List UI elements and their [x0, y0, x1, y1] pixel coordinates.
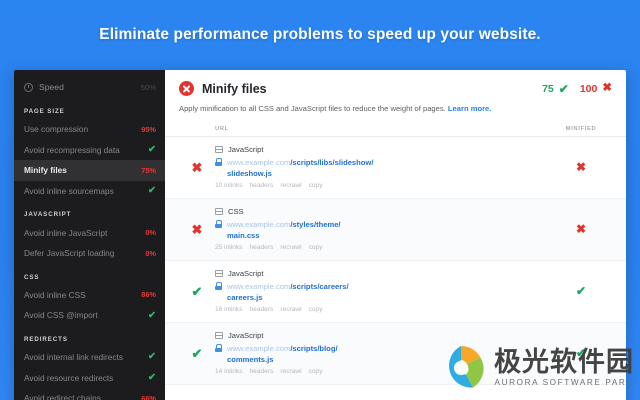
row-inlinks: 14 inlinks: [215, 368, 243, 375]
panel-description: Apply minification to all CSS and JavaSc…: [179, 104, 612, 115]
row-action-copy[interactable]: copy: [309, 244, 323, 251]
row-status-icon: ✖: [179, 161, 215, 174]
check-icon: ✔: [148, 186, 156, 196]
sidebar-item-value: 0%: [145, 228, 156, 237]
sidebar-item-value: 0%: [145, 249, 156, 258]
speed-value: 50%: [141, 83, 156, 92]
row-type: JavaScript: [215, 331, 550, 340]
row-action-recrawl[interactable]: recrawl: [280, 368, 301, 375]
row-status-icon: ✔: [179, 285, 215, 298]
file-type-icon: [215, 270, 223, 277]
check-icon: ✔: [148, 352, 156, 362]
sidebar-item-label: Avoid inline CSS: [24, 290, 141, 300]
row-url-text: www.example.com/scripts/careers/ careers…: [227, 281, 349, 303]
table-row[interactable]: ✖ CSS www.example.com/styles/theme/ main…: [165, 199, 626, 261]
row-type-label: JavaScript: [228, 269, 263, 278]
url-path: /scripts/blog/: [290, 344, 337, 353]
lock-icon: [215, 220, 222, 228]
column-header-url[interactable]: URL: [179, 126, 550, 132]
sidebar-item-value: 75%: [141, 166, 156, 175]
column-header-minified[interactable]: MINIFIED: [550, 126, 612, 132]
row-action-headers[interactable]: headers: [250, 368, 274, 375]
row-action-recrawl[interactable]: recrawl: [280, 182, 301, 189]
row-url-text: www.example.com/scripts/libs/slideshow/ …: [227, 157, 373, 179]
lock-icon: [215, 344, 222, 352]
row-action-copy[interactable]: copy: [309, 306, 323, 313]
sidebar-item-avoid-internal-link-redirects[interactable]: Avoid internal link redirects ✔: [14, 347, 165, 368]
row-type-label: JavaScript: [228, 331, 263, 340]
check-icon: ✔: [148, 145, 156, 155]
sidebar-section-page-size: PAGE SIZE: [14, 98, 165, 119]
row-minified-icon: ✔: [550, 285, 612, 297]
row-type: CSS: [215, 207, 550, 216]
sidebar-item-label: Avoid CSS @import: [24, 310, 148, 320]
sidebar-item-label: Avoid internal link redirects: [24, 352, 148, 362]
row-type: JavaScript: [215, 269, 550, 278]
x-circle-icon: [179, 81, 194, 96]
sidebar-section-javascript: JAVASCRIPT: [14, 201, 165, 222]
row-minified-icon: ✖: [550, 161, 612, 173]
sidebar: Speed 50% PAGE SIZE Use compression 95% …: [14, 70, 165, 400]
row-url[interactable]: www.example.com/styles/theme/ main.css: [215, 219, 550, 241]
row-action-copy[interactable]: copy: [309, 182, 323, 189]
file-type-icon: [215, 146, 223, 153]
sidebar-item-label: Defer JavaScript loading: [24, 248, 145, 258]
url-domain: www.example.com: [227, 344, 290, 353]
lock-icon: [215, 158, 222, 166]
sidebar-item-value: 86%: [141, 290, 156, 299]
url-domain: www.example.com: [227, 282, 290, 291]
row-action-headers[interactable]: headers: [250, 244, 274, 251]
sidebar-item-avoid-resource-redirects[interactable]: Avoid resource redirects ✔: [14, 367, 165, 388]
sidebar-item-label: Use compression: [24, 124, 141, 134]
row-meta: 16 inlinks headers recrawl copy: [215, 306, 550, 313]
url-domain: www.example.com: [227, 220, 290, 229]
sidebar-item-label: Avoid inline sourcemaps: [24, 186, 148, 196]
panel-description-text: Apply minification to all CSS and JavaSc…: [179, 104, 446, 113]
sidebar-item-value: 66%: [141, 394, 156, 400]
panel-title-row: Minify files 75 ✔ 100 ✖: [179, 81, 612, 96]
sidebar-item-avoid-inline-sourcemaps[interactable]: Avoid inline sourcemaps ✔: [14, 181, 165, 202]
panel-header: Minify files 75 ✔ 100 ✖ Apply minificati…: [165, 70, 626, 115]
url-domain: www.example.com: [227, 158, 290, 167]
sidebar-item-label: Avoid inline JavaScript: [24, 228, 145, 238]
table-body: ✖ JavaScript www.example.com/scripts/lib…: [165, 137, 626, 400]
sidebar-item-avoid-inline-javascript[interactable]: Avoid inline JavaScript 0%: [14, 222, 165, 243]
sidebar-item-use-compression[interactable]: Use compression 95%: [14, 119, 165, 140]
file-type-icon: [215, 332, 223, 339]
url-file: comments.js: [227, 354, 338, 365]
row-action-copy[interactable]: copy: [309, 368, 323, 375]
row-inlinks: 25 inlinks: [215, 244, 243, 251]
row-action-recrawl[interactable]: recrawl: [280, 306, 301, 313]
row-content: CSS www.example.com/styles/theme/ main.c…: [215, 207, 550, 251]
sidebar-item-label: Avoid recompressing data: [24, 145, 148, 155]
sidebar-item-minify-files[interactable]: Minify files 75%: [14, 160, 165, 181]
sidebar-item-label: Avoid redirect chains: [24, 393, 141, 400]
speed-label: Speed: [39, 82, 141, 92]
learn-more-link[interactable]: Learn more.: [448, 104, 491, 113]
score-pass-value: 75: [542, 83, 554, 95]
sidebar-section-redirects: REDIRECTS: [14, 326, 165, 347]
row-type-label: JavaScript: [228, 145, 263, 154]
sidebar-item-avoid-recompressing-data[interactable]: Avoid recompressing data ✔: [14, 140, 165, 161]
sidebar-item-avoid-css-import[interactable]: Avoid CSS @import ✔: [14, 305, 165, 326]
url-path: /scripts/careers/: [290, 282, 348, 291]
table-row[interactable]: CSS: [165, 385, 626, 400]
score-summary: 75 ✔ 100 ✖: [542, 83, 612, 95]
table-header: URL MINIFIED: [165, 126, 626, 137]
row-content: JavaScript www.example.com/scripts/blog/…: [215, 331, 550, 375]
url-file: main.css: [227, 230, 341, 241]
row-meta: 25 inlinks headers recrawl copy: [215, 244, 550, 251]
row-inlinks: 10 inlinks: [215, 182, 243, 189]
row-status-icon: ✖: [179, 223, 215, 236]
row-inlinks: 16 inlinks: [215, 306, 243, 313]
sidebar-item-label: Minify files: [24, 165, 141, 175]
row-meta: 10 inlinks headers recrawl copy: [215, 182, 550, 189]
clock-icon: [24, 83, 33, 92]
url-path: /scripts/libs/slideshow/: [290, 158, 373, 167]
sidebar-item-defer-javascript-loading[interactable]: Defer JavaScript loading 0%: [14, 243, 165, 264]
row-url[interactable]: www.example.com/scripts/libs/slideshow/ …: [215, 157, 550, 179]
check-icon: ✔: [148, 311, 156, 321]
check-icon: ✔: [148, 373, 156, 383]
app-window: Speed 50% PAGE SIZE Use compression 95% …: [14, 70, 626, 400]
sidebar-item-avoid-inline-css[interactable]: Avoid inline CSS 86%: [14, 285, 165, 306]
row-status-icon: ✔: [179, 347, 215, 360]
sidebar-item-avoid-redirect-chains[interactable]: Avoid redirect chains 66%: [14, 388, 165, 400]
row-action-recrawl[interactable]: recrawl: [280, 244, 301, 251]
row-content: JavaScript www.example.com/scripts/caree…: [215, 269, 550, 313]
row-minified-icon: ✔: [550, 347, 612, 359]
sidebar-item-value: 95%: [141, 125, 156, 134]
sidebar-section-css: CSS: [14, 264, 165, 285]
cross-icon: ✖: [602, 83, 612, 95]
row-url-text: www.example.com/scripts/blog/ comments.j…: [227, 343, 338, 365]
table-row[interactable]: ✔ JavaScript www.example.com/scripts/blo…: [165, 323, 626, 385]
file-type-icon: [215, 208, 223, 215]
row-minified-icon: ✖: [550, 223, 612, 235]
row-url[interactable]: www.example.com/scripts/blog/ comments.j…: [215, 343, 550, 365]
main-panel: Minify files 75 ✔ 100 ✖ Apply minificati…: [165, 70, 626, 400]
row-action-headers[interactable]: headers: [250, 306, 274, 313]
url-file: slideshow.js: [227, 168, 373, 179]
row-type-label: CSS: [228, 207, 244, 216]
row-url-text: www.example.com/styles/theme/ main.css: [227, 219, 341, 241]
row-action-headers[interactable]: headers: [250, 182, 274, 189]
sidebar-item-speed[interactable]: Speed 50%: [14, 76, 165, 98]
url-file: careers.js: [227, 292, 349, 303]
row-meta: 14 inlinks headers recrawl copy: [215, 368, 550, 375]
row-url[interactable]: www.example.com/scripts/careers/ careers…: [215, 281, 550, 303]
check-icon: ✔: [559, 83, 569, 95]
url-path: /styles/theme/: [290, 220, 340, 229]
row-content: JavaScript www.example.com/scripts/libs/…: [215, 145, 550, 189]
score-fail-value: 100: [580, 83, 598, 95]
lock-icon: [215, 282, 222, 290]
page-headline: Eliminate performance problems to speed …: [0, 26, 640, 44]
page-title: Minify files: [202, 82, 542, 96]
row-type: JavaScript: [215, 145, 550, 154]
table-row[interactable]: ✖ JavaScript www.example.com/scripts/lib…: [165, 137, 626, 199]
sidebar-item-label: Avoid resource redirects: [24, 373, 148, 383]
table-row[interactable]: ✔ JavaScript www.example.com/scripts/car…: [165, 261, 626, 323]
